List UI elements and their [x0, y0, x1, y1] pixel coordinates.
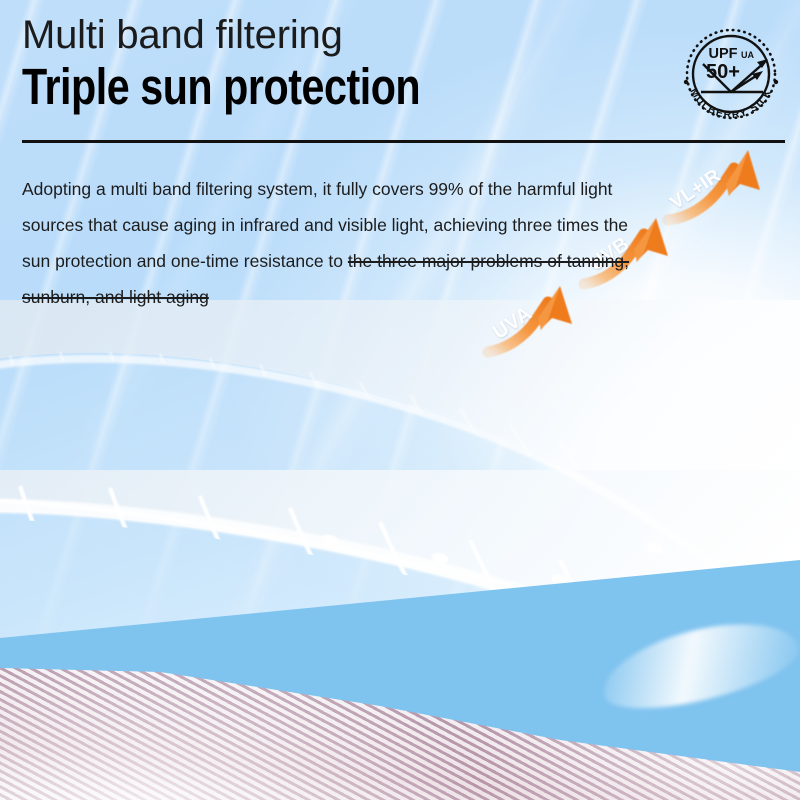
page-title: Multi band filtering	[22, 14, 722, 57]
title-divider	[22, 140, 785, 143]
body-paragraph: Adopting a multi band filtering system, …	[22, 171, 632, 315]
product-feature-banner: UVA UVB VL+IR UPF UA 50+	[0, 0, 800, 800]
page-subtitle: Triple sun protection	[22, 59, 694, 116]
headline-block: Multi band filtering Triple sun protecti…	[22, 14, 722, 107]
badge-upf-suffix: UA	[741, 50, 754, 60]
